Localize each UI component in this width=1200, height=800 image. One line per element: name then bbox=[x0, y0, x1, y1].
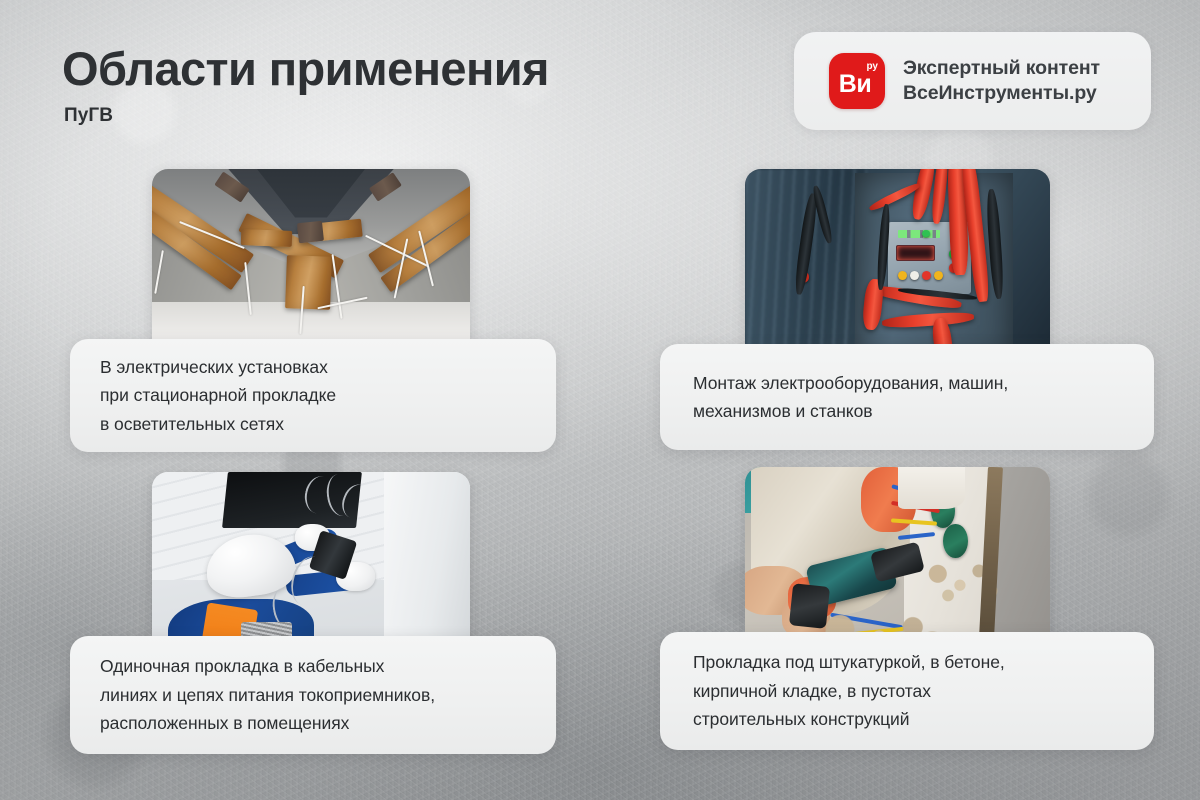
infographic-canvas: Области применения ПуГВ Ви ру Экспертный… bbox=[0, 0, 1200, 800]
card-equipment-mounting[interactable]: Монтаж электрооборудования, машин, механ… bbox=[660, 344, 1154, 450]
brand-line-1: Экспертный контент bbox=[903, 56, 1100, 81]
brand-line-2: ВсеИнструменты.ру bbox=[903, 81, 1100, 106]
logo-superscript: ру bbox=[866, 62, 878, 72]
card-text: Прокладка под штукатуркой, в бетоне, кир… bbox=[693, 648, 1005, 733]
card-under-plaster[interactable]: Прокладка под штукатуркой, в бетоне, кир… bbox=[660, 632, 1154, 750]
logo-letters: Ви bbox=[839, 72, 871, 97]
header: Области применения ПуГВ bbox=[62, 44, 722, 127]
card-text: Одиночная прокладка в кабельных линиях и… bbox=[100, 652, 435, 737]
card-electrical-installations[interactable]: В электрических установках при стационар… bbox=[70, 339, 556, 452]
photo-equipment-mounting bbox=[745, 169, 1050, 365]
page-title: Области применения bbox=[62, 44, 722, 95]
card-cable-lines[interactable]: Одиночная прокладка в кабельных линиях и… bbox=[70, 636, 556, 754]
card-text: В электрических установках при стационар… bbox=[100, 353, 336, 438]
page-subtitle: ПуГВ bbox=[64, 105, 722, 127]
vseinstrumenty-logo-icon: Ви ру bbox=[829, 53, 885, 109]
brand-text-block: Экспертный контент ВсеИнструменты.ру bbox=[903, 56, 1100, 106]
brand-badge[interactable]: Ви ру Экспертный контент ВсеИнструменты.… bbox=[794, 32, 1151, 130]
card-text: Монтаж электрооборудования, машин, механ… bbox=[693, 369, 1008, 426]
photo-under-plaster bbox=[745, 467, 1050, 657]
